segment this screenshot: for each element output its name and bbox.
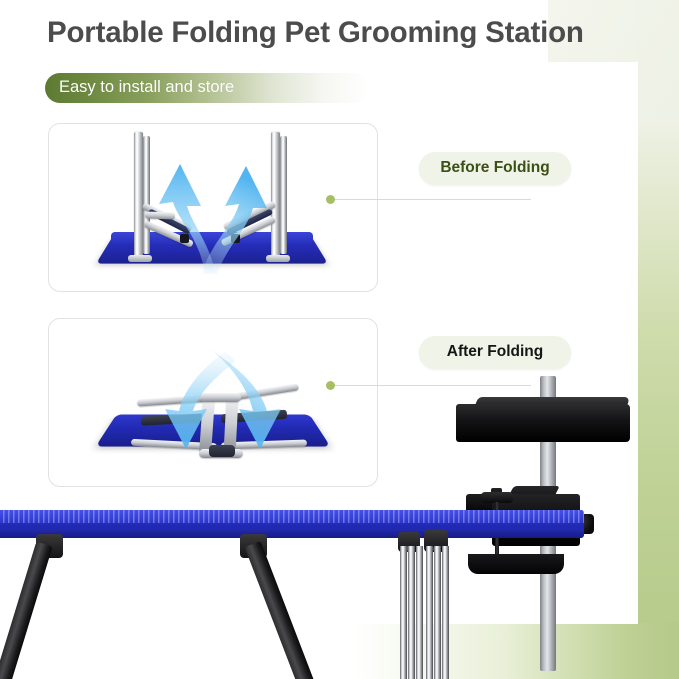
- product-illustration-unfolded: [49, 124, 377, 291]
- folding-leg-right: [245, 541, 320, 679]
- callout-before-folding-label: Before Folding: [419, 159, 571, 177]
- subtitle-badge-label: Easy to install and store: [59, 78, 234, 97]
- arrow-up-pair: [49, 124, 377, 291]
- arrow-up-left: [159, 164, 215, 274]
- clamp-arm: [456, 404, 630, 442]
- folding-leg-left: [0, 542, 53, 679]
- tabletop-edge: [0, 529, 584, 538]
- callout-before-folding: Before Folding: [419, 152, 571, 185]
- subtitle-badge: Easy to install and store: [45, 73, 370, 103]
- support-tube-2: [408, 546, 415, 679]
- support-tube-1: [400, 546, 407, 679]
- support-tube-6: [442, 546, 449, 679]
- panel-before-folding: [48, 123, 378, 292]
- arrow-up-right: [201, 166, 267, 274]
- callout-line-before: [335, 199, 531, 200]
- page-title: Portable Folding Pet Grooming Station: [47, 16, 647, 50]
- callout-dot-before: [326, 195, 335, 204]
- callout-after-folding-label: After Folding: [419, 343, 571, 361]
- callout-after-folding: After Folding: [419, 336, 571, 369]
- hero-product-photo: [0, 368, 679, 679]
- clamp-under-bracket: [468, 554, 564, 574]
- product-infographic: Portable Folding Pet Grooming Station Ea…: [0, 0, 679, 679]
- support-tube-4: [426, 546, 433, 679]
- support-tube-5: [434, 546, 441, 679]
- support-tube-3: [416, 546, 423, 679]
- tabletop-ribbed-surface: [0, 510, 584, 523]
